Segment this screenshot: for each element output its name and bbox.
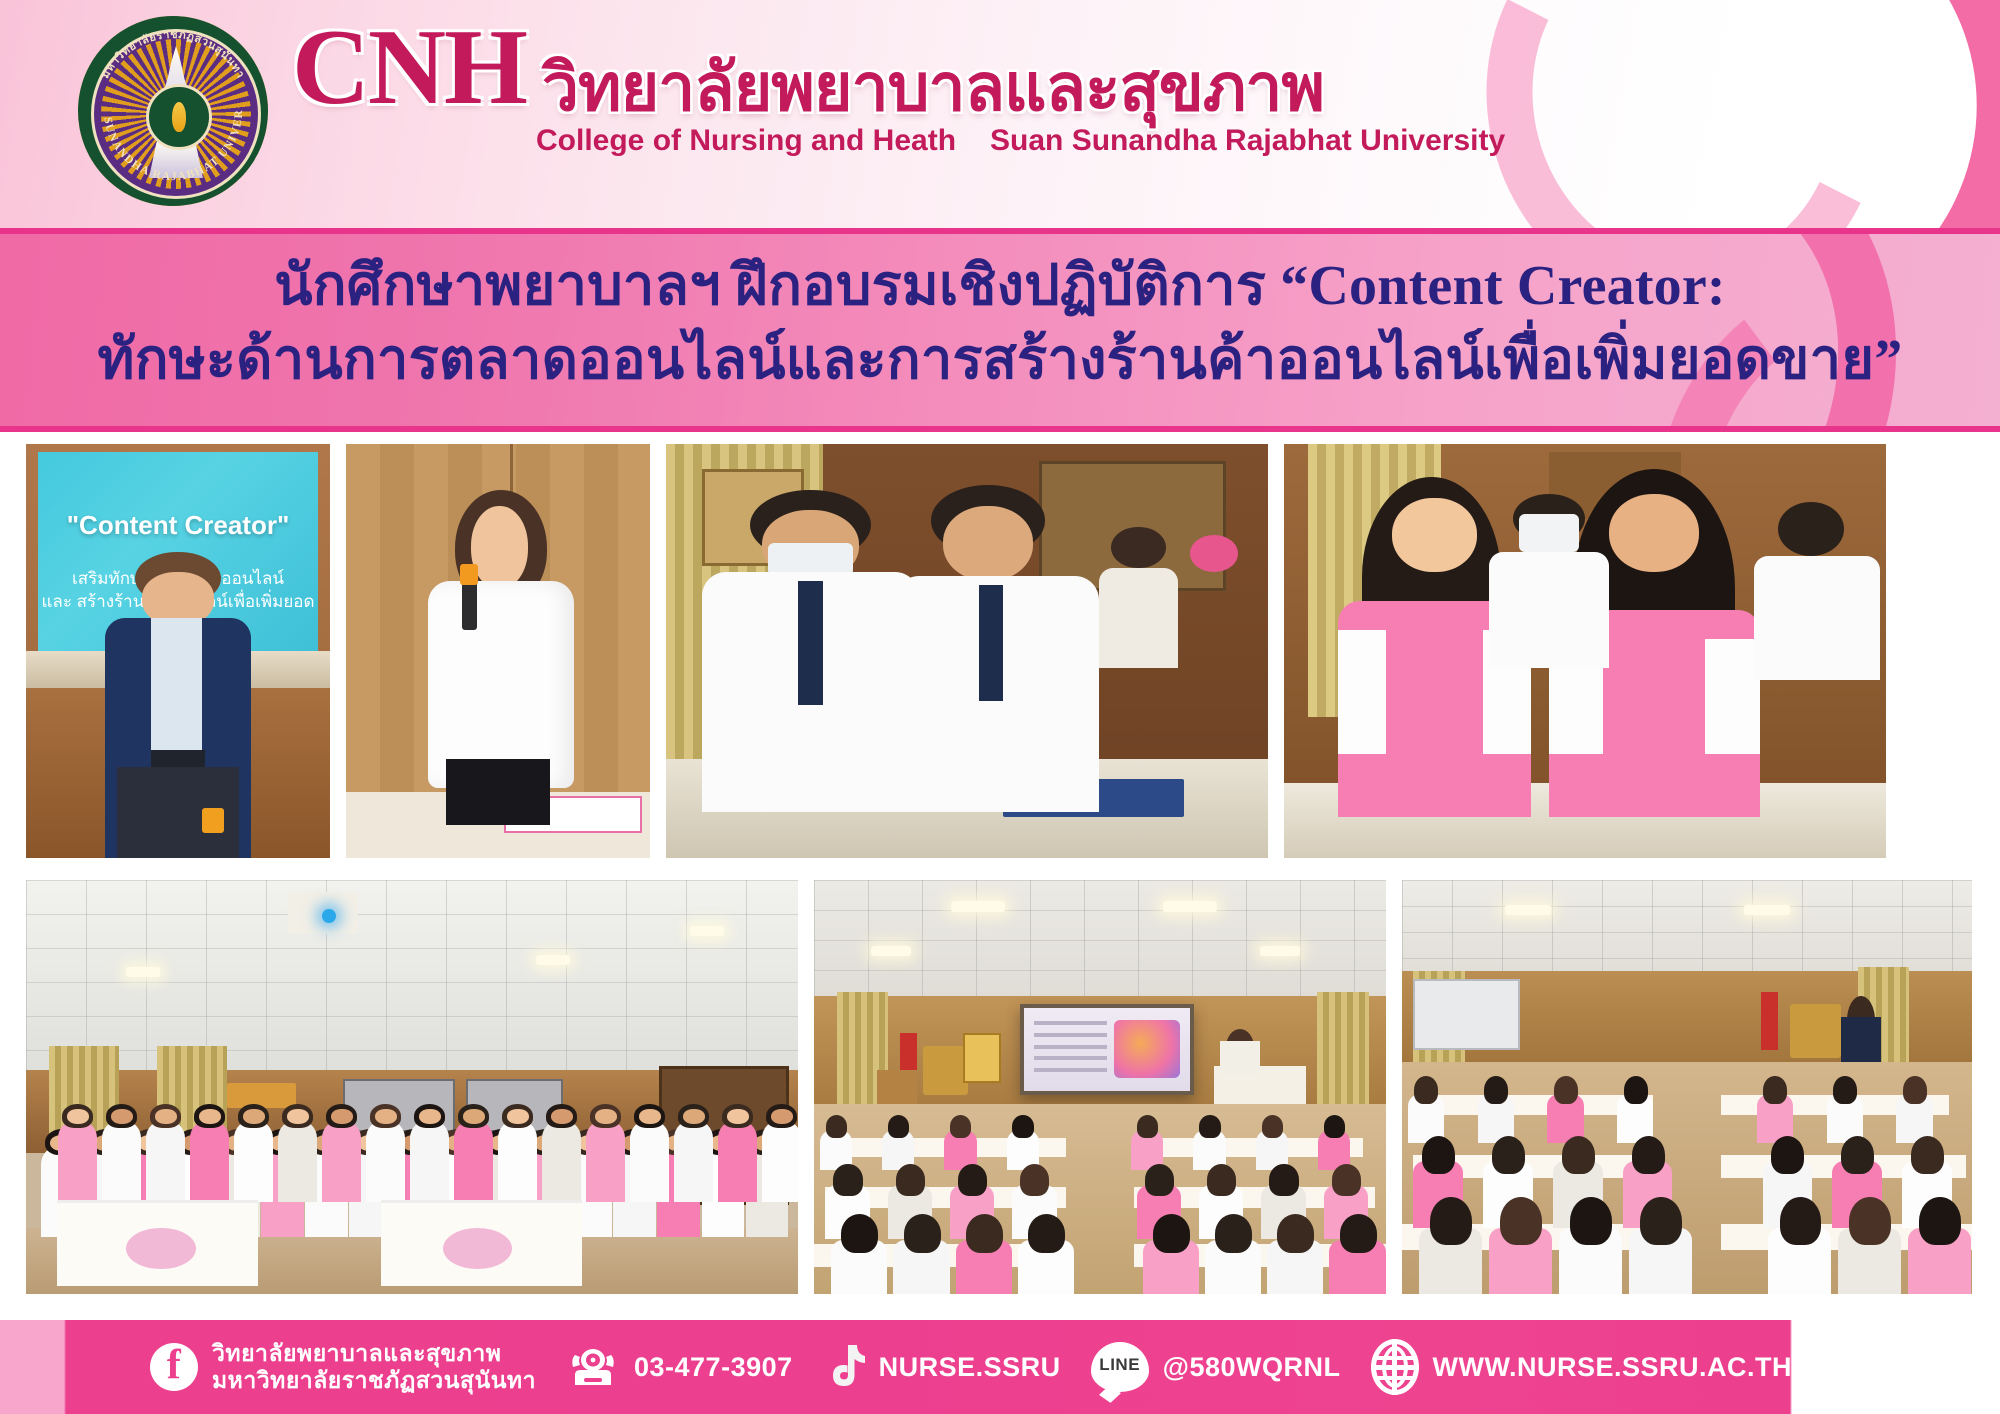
audience-member-head — [888, 1115, 909, 1138]
audience-member-head — [1422, 1136, 1455, 1174]
group-photo-person-face — [507, 1109, 529, 1124]
audience-member-head — [1570, 1197, 1612, 1245]
group-photo-person-face — [375, 1109, 397, 1124]
audience-member-head — [1554, 1076, 1578, 1104]
slide-title-text: "Content Creator" — [26, 510, 330, 541]
classroom-back-photo[interactable] — [1398, 876, 1976, 1298]
group-photo-person-face — [727, 1109, 749, 1124]
group-photo-person-face — [111, 1109, 133, 1124]
college-english-name: College of Nursing and Heath — [536, 124, 956, 158]
group-photo-person-face — [243, 1109, 265, 1124]
line-icon: LINE — [1091, 1342, 1149, 1392]
group-photo-person — [58, 1120, 97, 1202]
audience-member-head — [1492, 1136, 1525, 1174]
audience-member-head — [1500, 1197, 1542, 1245]
audience-member-head — [1484, 1076, 1508, 1104]
svg-text:มหาวิทยาลัยราชภัฏสวนสุนันทา: มหาวิทยาลัยราชภัฏสวนสุนันทา — [99, 28, 246, 80]
group-photo-person — [146, 1120, 185, 1202]
facebook-label: วิทยาลัยพยาบาลและสุขภาพ มหาวิทยาลัยราชภั… — [212, 1340, 536, 1394]
audience-member-head — [904, 1214, 941, 1253]
lecture-hall-photo[interactable] — [810, 876, 1390, 1298]
audience-member-head — [1624, 1076, 1648, 1104]
audience-member-head — [1153, 1214, 1190, 1253]
group-photo-person-face — [419, 1109, 441, 1124]
line-badge-label: LINE — [1099, 1355, 1140, 1375]
audience-member-head — [1332, 1164, 1361, 1195]
audience-member-head — [1207, 1164, 1236, 1195]
website-url: WWW.NURSE.SSRU.AC.TH — [1433, 1352, 1792, 1383]
header-titles: CNH วิทยาลัยพยาบาลและสุขภาพ College of N… — [292, 14, 1505, 158]
event-title-line-2: ทักษะด้านการตลาดออนไลน์และการสร้างร้านค้… — [0, 324, 2000, 398]
phone-number: 03-477-3907 — [634, 1352, 793, 1383]
group-photo-person — [674, 1120, 713, 1202]
group-photo-person — [454, 1120, 493, 1202]
audience-member-head — [1340, 1214, 1377, 1253]
audience-member-head — [1269, 1164, 1298, 1195]
audience-member-head — [826, 1115, 847, 1138]
seal-ring-text: มหาวิทยาลัยราชภัฏสวนสุนันทา SUAN SUNANDH… — [78, 16, 268, 206]
audience-member-head — [1640, 1197, 1682, 1245]
contact-facebook[interactable]: วิทยาลัยพยาบาลและสุขภาพ มหาวิทยาลัยราชภั… — [150, 1340, 536, 1394]
group-photo-person — [498, 1120, 537, 1202]
group-photo-person-face — [683, 1109, 705, 1124]
audience-member-head — [1028, 1214, 1065, 1253]
speaker-microphone-photo[interactable] — [342, 440, 654, 862]
two-male-students-photo[interactable] — [662, 440, 1272, 862]
audience-member-head — [1780, 1197, 1822, 1245]
audience-member-head — [1145, 1164, 1174, 1195]
group-photo-person-face — [67, 1109, 89, 1124]
audience-member-head — [1137, 1115, 1158, 1138]
group-photo-person — [542, 1120, 581, 1202]
group-photo-person-face — [463, 1109, 485, 1124]
event-title-line-1: นักศึกษาพยาบาลฯ ฝึกอบรมเชิงปฏิบัติการ “C… — [0, 250, 2000, 324]
group-photo-person — [630, 1120, 669, 1202]
group-photo-person-face — [595, 1109, 617, 1124]
group-photo-person-face — [551, 1109, 573, 1124]
contact-website[interactable]: WWW.NURSE.SSRU.AC.TH — [1371, 1339, 1792, 1395]
audience-member-head — [1262, 1115, 1283, 1138]
audience-member-head — [1430, 1197, 1472, 1245]
poster-root: มหาวิทยาลัยราชภัฏสวนสุนันทา SUAN SUNANDH… — [0, 0, 2000, 1414]
gallery-row-bottom — [22, 876, 1978, 1298]
line-id: @580WQRNL — [1163, 1352, 1341, 1383]
group-photo-person-face — [639, 1109, 661, 1124]
two-female-students-photo[interactable] — [1280, 440, 1890, 862]
audience-member-head — [1849, 1197, 1891, 1245]
audience-member-head — [1562, 1136, 1595, 1174]
audience-member-head — [1763, 1076, 1787, 1104]
group-photo-person-face — [771, 1109, 793, 1124]
contact-tiktok[interactable]: NURSE.SSRU — [823, 1343, 1061, 1391]
speaker-intro-photo[interactable]: "Content Creator" เสริมทักษะการตลาดออนไล… — [22, 440, 334, 862]
audience-member-head — [833, 1164, 862, 1195]
group-photo-person — [366, 1120, 405, 1202]
audience-member-head — [1012, 1115, 1033, 1138]
college-thai-name: วิทยาลัยพยาบาลและสุขภาพ — [542, 53, 1324, 122]
tiktok-handle: NURSE.SSRU — [879, 1352, 1061, 1383]
group-photo[interactable] — [22, 876, 802, 1298]
globe-icon — [1371, 1339, 1419, 1395]
audience-member-head — [1277, 1214, 1314, 1253]
audience-member-head — [1903, 1076, 1927, 1104]
group-photo-person-face — [155, 1109, 177, 1124]
group-photo-person — [322, 1120, 361, 1202]
audience-member-head — [896, 1164, 925, 1195]
group-photo-person — [586, 1120, 625, 1202]
gallery-row-top: "Content Creator" เสริมทักษะการตลาดออนไล… — [22, 440, 1978, 862]
group-photo-person-face — [199, 1109, 221, 1124]
audience-member-head — [950, 1115, 971, 1138]
audience-member-head — [1911, 1136, 1944, 1174]
group-photo-person — [278, 1120, 317, 1202]
group-photo-person — [762, 1120, 801, 1202]
tiktok-icon — [823, 1343, 865, 1391]
group-photo-person — [102, 1120, 141, 1202]
audience-member-head — [1841, 1136, 1874, 1174]
audience-member-head — [1199, 1115, 1220, 1138]
contact-phone[interactable]: 03-477-3907 — [566, 1345, 793, 1389]
university-english-name: Suan Sunandha Rajabhat University — [990, 124, 1505, 158]
photo-gallery: "Content Creator" เสริมทักษะการตลาดออนไล… — [22, 440, 1978, 1300]
poster-header: มหาวิทยาลัยราชภัฏสวนสุนันทา SUAN SUNANDH… — [0, 0, 2000, 228]
group-photo-person-face — [287, 1109, 309, 1124]
event-title-banner: นักศึกษาพยาบาลฯ ฝึกอบรมเชิงปฏิบัติการ “C… — [0, 228, 2000, 432]
audience-member-head — [1919, 1197, 1961, 1245]
facebook-icon — [150, 1343, 198, 1391]
group-photo-person — [410, 1120, 449, 1202]
group-photo-person — [718, 1120, 757, 1202]
telephone-icon — [566, 1345, 620, 1389]
audience-member-head — [1632, 1136, 1665, 1174]
audience-member-head — [1020, 1164, 1049, 1195]
audience-member-head — [1414, 1076, 1438, 1104]
contact-line[interactable]: LINE @580WQRNL — [1091, 1342, 1341, 1392]
audience-member-head — [841, 1214, 878, 1253]
audience-member-head — [958, 1164, 987, 1195]
audience-member-head — [1833, 1076, 1857, 1104]
contact-footer: วิทยาลัยพยาบาลและสุขภาพ มหาวิทยาลัยราชภั… — [0, 1320, 2000, 1414]
audience-member-head — [966, 1214, 1003, 1253]
university-seal-logo: มหาวิทยาลัยราชภัฏสวนสุนันทา SUAN SUNANDH… — [78, 16, 268, 206]
brand-acronym: CNH — [292, 14, 526, 122]
group-photo-person — [234, 1120, 273, 1202]
audience-member-head — [1771, 1136, 1804, 1174]
group-photo-person — [190, 1120, 229, 1202]
group-photo-person-face — [331, 1109, 353, 1124]
audience-member-head — [1215, 1214, 1252, 1253]
audience-member-head — [1324, 1115, 1345, 1138]
